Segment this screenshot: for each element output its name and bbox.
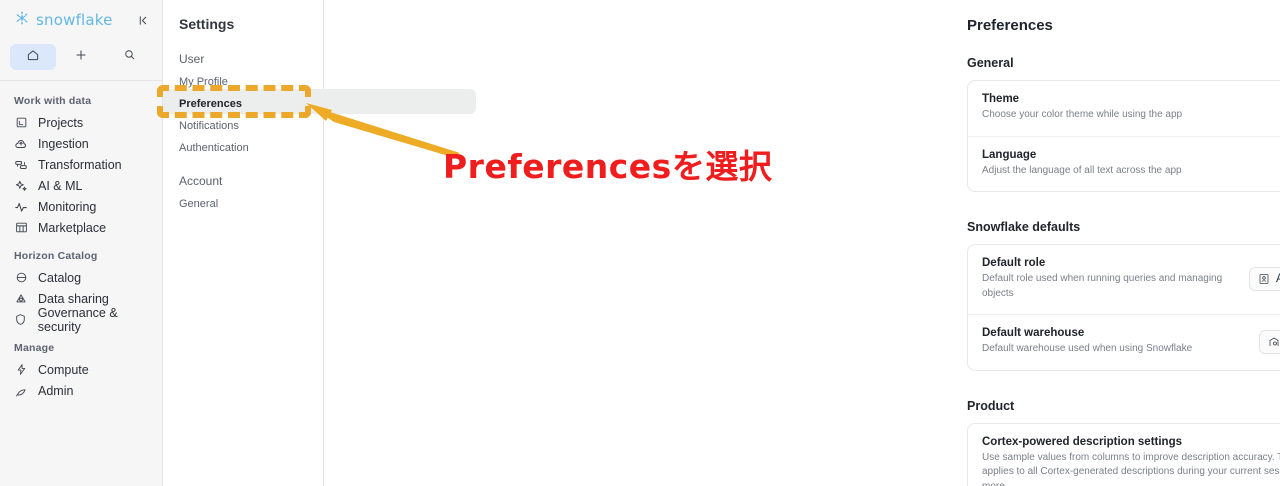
quick-action-search[interactable] [106,44,152,70]
compute-bolt-icon [14,363,28,377]
sidebar-item-label: Admin [38,384,73,398]
app-sidebar: snowflake [0,0,163,486]
section-title-product: Product [967,399,1280,413]
settings-link-general[interactable]: General [163,188,323,210]
sidebar-item-ingestion[interactable]: Ingestion [0,133,162,154]
settings-link-authentication[interactable]: Authentication [163,132,323,154]
main-content: Preferences General Theme Choose your co… [324,0,1280,486]
sidebar-item-admin[interactable]: Admin [0,380,162,401]
default-role-dropdown[interactable]: ACCOUNTADMIN [1249,267,1280,291]
row-description: Choose your color theme while using the … [982,108,1182,123]
sidebar-item-catalog[interactable]: Catalog [0,267,162,288]
row-theme: Theme Choose your color theme while usin… [968,81,1280,136]
catalog-icon [14,271,28,285]
row-description: Default role used when running queries a… [982,272,1249,301]
sidebar-item-compute[interactable]: Compute [0,359,162,380]
settings-link-my-profile[interactable]: My Profile [163,66,323,88]
settings-nav-title: Settings [163,0,323,32]
default-warehouse-dropdown[interactable]: COMPUTE_WH [1259,330,1280,354]
sidebar-item-monitoring[interactable]: Monitoring [0,196,162,217]
row-description: Use sample values from columns to improv… [982,451,1280,486]
row-description-text: Use sample values from columns to improv… [982,452,1280,478]
row-description: Default warehouse used when using Snowfl… [982,342,1192,357]
app-window: snowflake [0,0,1280,486]
snowflake-icon [14,10,30,31]
card-product: Cortex-powered description settings Use … [967,423,1280,486]
sidebar-divider [0,80,162,81]
projects-icon [14,116,28,130]
sidebar-item-projects[interactable]: Projects [0,112,162,133]
home-icon [26,48,40,67]
admin-icon [14,384,28,398]
sidebar-item-label: Transformation [38,158,122,172]
nav-section-label-work-with-data: Work with data [0,89,162,112]
marketplace-grid-icon [14,221,28,235]
sidebar-item-label: AI & ML [38,179,82,193]
warehouse-icon [1268,336,1280,348]
settings-nav: Settings User My Profile Preferences Not… [163,0,324,486]
sidebar-item-label: Marketplace [38,221,106,235]
section-title-general: General [967,56,1280,70]
settings-link-preferences[interactable]: Preferences [163,88,323,110]
row-title: Cortex-powered description settings [982,436,1280,448]
settings-group-label-user: User [163,32,323,66]
sidebar-item-label: Catalog [38,271,81,285]
activity-pulse-icon [14,200,28,214]
sidebar-item-governance-security[interactable]: Governance & security [0,309,162,330]
nav-section-label-horizon-catalog: Horizon Catalog [0,244,162,267]
row-cortex-description-settings: Cortex-powered description settings Use … [968,424,1280,486]
row-title: Default warehouse [982,327,1192,339]
row-title: Default role [982,257,1249,269]
row-default-warehouse: Default warehouse Default warehouse used… [968,314,1280,370]
sparkle-icon [14,179,28,193]
data-sharing-icon [14,292,28,306]
role-badge-icon [1258,273,1270,285]
sidebar-item-label: Governance & security [38,306,162,334]
preferences-panel: Preferences General Theme Choose your co… [967,0,1280,486]
sidebar-item-label: Monitoring [38,200,96,214]
settings-link-notifications[interactable]: Notifications [163,110,323,132]
sidebar-item-marketplace[interactable]: Marketplace [0,217,162,238]
sidebar-item-label: Projects [38,116,83,130]
shield-icon [14,313,28,327]
page-title: Preferences [967,17,1280,34]
plus-icon [74,48,88,67]
row-description: Adjust the language of all text across t… [982,164,1182,179]
row-title: Theme [982,93,1182,105]
sidebar-item-label: Ingestion [38,137,89,151]
nav-section-label-manage: Manage [0,336,162,359]
card-general: Theme Choose your color theme while usin… [967,80,1280,192]
sidebar-item-label: Compute [38,363,89,377]
sidebar-item-label: Data sharing [38,292,109,306]
quick-action-create[interactable] [58,44,104,70]
section-title-snowflake-defaults: Snowflake defaults [967,220,1280,234]
row-title: Language [982,149,1182,161]
brand-name: snowflake [36,11,113,29]
ingestion-cloud-icon [14,137,28,151]
sidebar-item-ai-ml[interactable]: AI & ML [0,175,162,196]
settings-selected-highlight [324,89,476,114]
quick-actions-row [0,40,162,80]
search-icon [123,48,136,66]
quick-action-home[interactable] [10,44,56,70]
brand-row: snowflake [0,0,162,40]
collapse-panel-icon[interactable] [137,14,150,27]
snowflake-logo[interactable]: snowflake [14,10,113,31]
default-role-value: ACCOUNTADMIN [1276,273,1280,285]
row-default-role: Default role Default role used when runn… [968,245,1280,314]
row-language: Language Adjust the language of all text… [968,136,1280,192]
settings-group-label-account: Account [163,154,323,188]
transformation-icon [14,158,28,172]
sidebar-item-transformation[interactable]: Transformation [0,154,162,175]
card-snowflake-defaults: Default role Default role used when runn… [967,244,1280,371]
